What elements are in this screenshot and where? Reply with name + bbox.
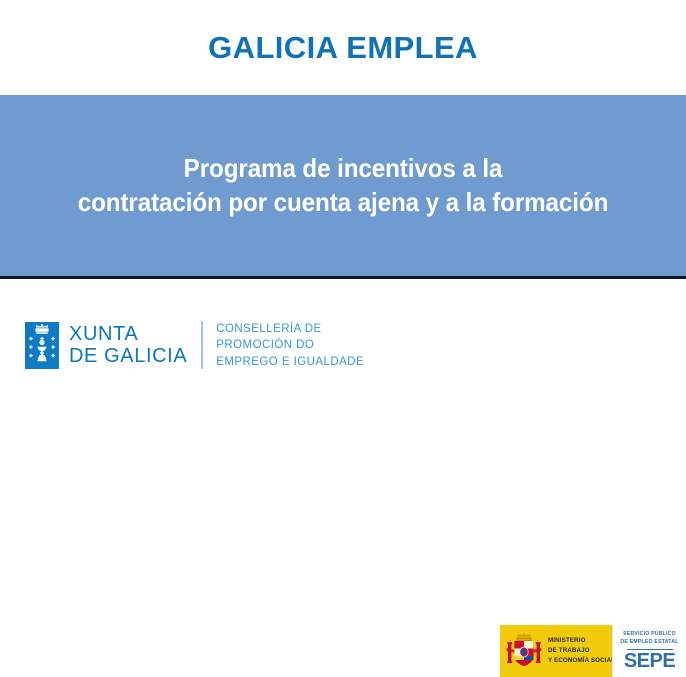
ministry-logo-group: MINISTERIO DE TRABAJO Y ECONOMÍA SOCIAL … [500, 625, 686, 677]
sepe-subtitle: SERVICIO PÚBLICO DE EMPLEO ESTATAL [620, 631, 678, 647]
conselleria-text: CONSELLERÍA DE PROMOCIÓN DO EMPREGO E IG… [216, 321, 364, 370]
xunta-wordmark: XUNTA DE GALICIA [69, 323, 187, 368]
program-banner: Programa de incentivos a la contratación… [0, 95, 686, 279]
logo-divider [201, 321, 203, 369]
ministerio-text: MINISTERIO DE TRABAJO Y ECONOMÍA SOCIAL [548, 636, 615, 666]
page-title: GALICIA EMPLEA [208, 32, 478, 63]
sepe-logo: SERVICIO PÚBLICO DE EMPLEO ESTATAL SEPE [612, 625, 686, 677]
xunta-shield-icon [25, 322, 59, 369]
program-title: Programa de incentivos a la contratación… [45, 152, 640, 219]
sepe-subtitle-line-2: DE EMPLEO ESTATAL [620, 639, 678, 647]
program-title-line-1: Programa de incentivos a la [45, 152, 640, 185]
ministerio-line-1: MINISTERIO [548, 636, 615, 646]
sepe-rule [627, 649, 673, 650]
ministerio-line-3: Y ECONOMÍA SOCIAL [548, 656, 615, 666]
ministerio-line-2: DE TRABAJO [548, 646, 615, 656]
ministerio-logo: MINISTERIO DE TRABAJO Y ECONOMÍA SOCIAL [500, 625, 612, 677]
sepe-subtitle-line-1: SERVICIO PÚBLICO [620, 631, 678, 639]
conselleria-line-1: CONSELLERÍA DE [216, 321, 364, 337]
spain-coat-of-arms-icon [506, 631, 542, 671]
header-banner: GALICIA EMPLEA [0, 0, 686, 95]
conselleria-line-3: EMPREGO E IGUALDADE [216, 354, 364, 370]
program-title-line-2: contratación por cuenta ajena y a la for… [45, 186, 640, 219]
sepe-acronym: SEPE [624, 651, 675, 671]
xunta-wordmark-line-1: XUNTA [69, 323, 138, 345]
footer-logos: XUNTA DE GALICIA CONSELLERÍA DE PROMOCIÓ… [0, 279, 686, 407]
xunta-wordmark-line-2: DE GALICIA [69, 345, 187, 367]
conselleria-line-2: PROMOCIÓN DO [216, 337, 364, 353]
xunta-logo-group: XUNTA DE GALICIA CONSELLERÍA DE PROMOCIÓ… [25, 321, 364, 370]
